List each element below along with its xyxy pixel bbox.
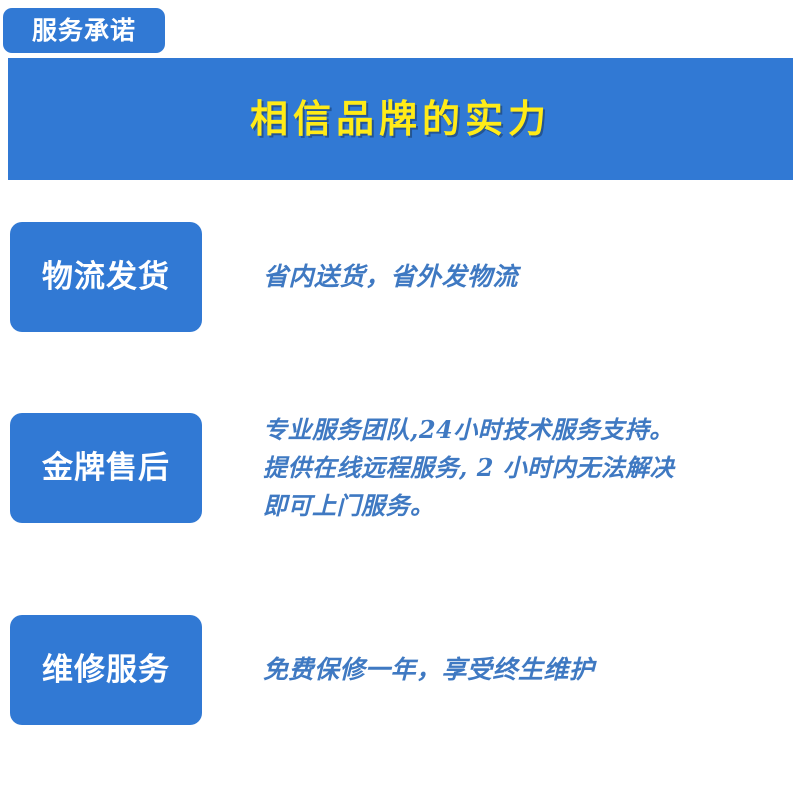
service-badge-label: 物流发货	[42, 262, 170, 293]
service-description-repair: 免费保修一年，享受终生维护	[263, 615, 783, 725]
banner-title: 相信品牌的实力	[250, 100, 551, 138]
service-description-line: 专业服务团队,24小时技术服务支持。	[263, 411, 783, 449]
section-tag-label: 服务承诺	[32, 18, 136, 43]
service-description-logistics: 省内送货，省外发物流	[263, 222, 783, 332]
service-badge-label: 金牌售后	[42, 453, 170, 484]
service-badge-repair: 维修服务	[10, 615, 202, 725]
service-badge-logistics: 物流发货	[10, 222, 202, 332]
section-tag: 服务承诺	[3, 8, 165, 53]
service-description-line: 即可上门服务。	[263, 487, 783, 525]
service-badge-label: 维修服务	[42, 655, 170, 686]
service-badge-after-sales: 金牌售后	[10, 413, 202, 523]
service-description-line: 省内送货，省外发物流	[263, 258, 783, 297]
service-commitment-page: 服务承诺 相信品牌的实力 物流发货 省内送货，省外发物流 金牌售后 专业服务团队…	[0, 0, 800, 800]
service-description-after-sales: 专业服务团队,24小时技术服务支持。 提供在线远程服务, 2 小时内无法解决 即…	[263, 413, 783, 523]
brand-banner: 相信品牌的实力	[8, 58, 793, 180]
service-description-line: 提供在线远程服务, 2 小时内无法解决	[263, 449, 783, 487]
service-description-line: 免费保修一年，享受终生维护	[263, 651, 783, 690]
